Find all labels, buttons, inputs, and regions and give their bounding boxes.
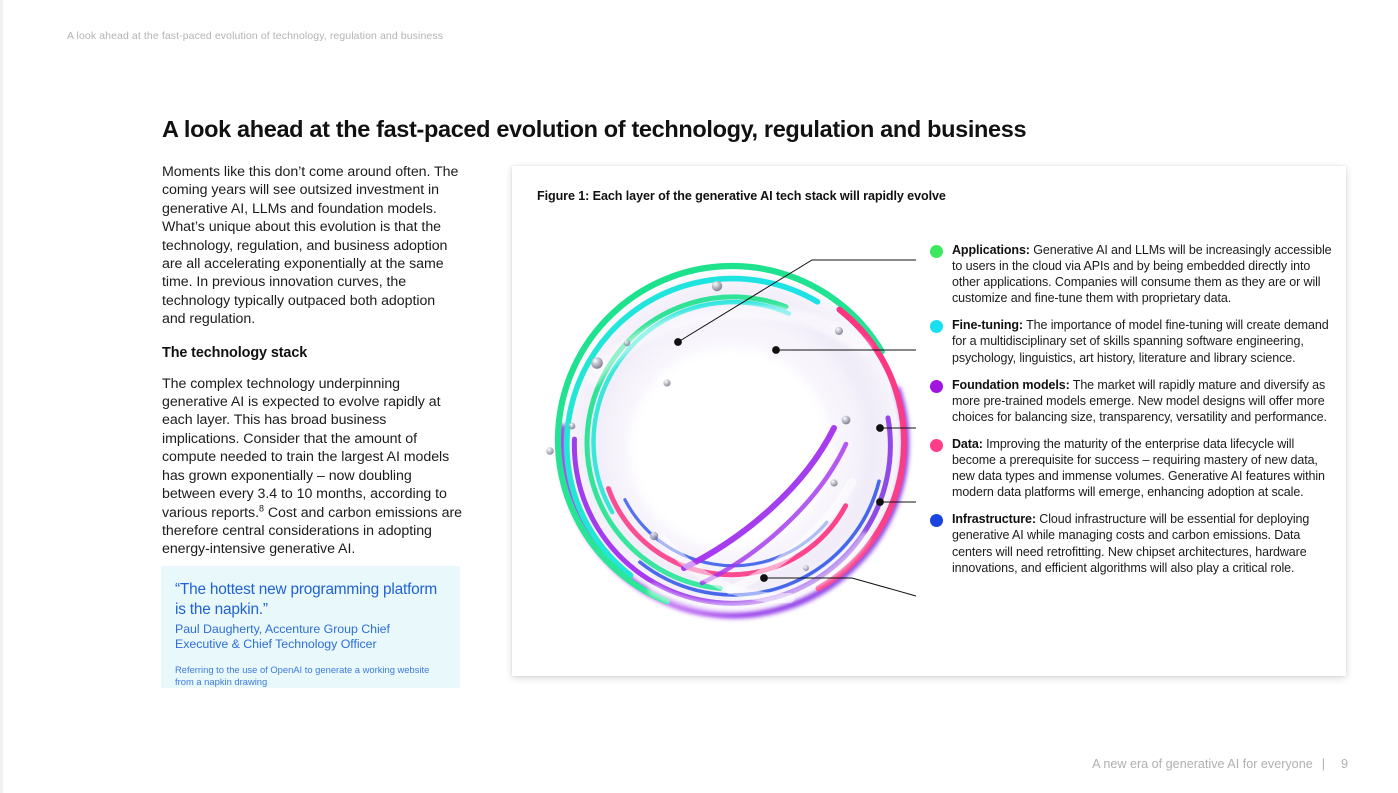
legend-item-applications[interactable]: Applications: Generative AI and LLMs wil…: [922, 242, 1334, 306]
legend-item-foundation-models[interactable]: Foundation models: The market will rapid…: [922, 377, 1334, 425]
legend-label-foundation-models: Foundation models:: [952, 378, 1070, 392]
technology-stack-paragraph: The complex technology underpinning gene…: [162, 375, 462, 559]
figure-caption-text: Each layer of the generative AI tech sta…: [589, 189, 946, 203]
quote-text: “The hottest new programming platform is…: [175, 580, 444, 619]
applications-bullet-icon: [930, 245, 943, 258]
footer-document-title: A new era of generative AI for everyone: [1092, 757, 1313, 771]
infrastructure-bullet-icon: [930, 514, 943, 527]
legend-text-infrastructure: Infrastructure: Cloud infrastructure wil…: [952, 511, 1334, 575]
page-edge-rule: [0, 0, 3, 793]
legend-label-infrastructure: Infrastructure:: [952, 512, 1036, 526]
page-title: A look ahead at the fast-paced evolution…: [162, 116, 1062, 143]
page-footer: A new era of generative AI for everyone|…: [1092, 757, 1348, 771]
figure-caption-label: Figure 1:: [537, 189, 589, 203]
fine-tuning-bullet-icon: [930, 320, 943, 333]
tech-stack-vortex-graphic: [534, 238, 934, 648]
legend-text-fine-tuning: Fine-tuning: The importance of model fin…: [952, 317, 1334, 365]
legend-text-data: Data: Improving the maturity of the ente…: [952, 436, 1334, 500]
figure-caption: Figure 1: Each layer of the generative A…: [537, 189, 946, 203]
left-column: Moments like this don’t come around ofte…: [162, 163, 462, 575]
legend-label-applications: Applications:: [952, 243, 1030, 257]
quote-note: Referring to the use of OpenAI to genera…: [175, 664, 444, 687]
data-bullet-icon: [930, 439, 943, 452]
legend-item-data[interactable]: Data: Improving the maturity of the ente…: [922, 436, 1334, 500]
legend-body-data: Improving the maturity of the enterprise…: [952, 437, 1325, 499]
quote-attribution: Paul Daugherty, Accenture Group Chief Ex…: [175, 622, 444, 652]
section-subheading: The technology stack: [162, 345, 462, 361]
intro-paragraph: Moments like this don’t come around ofte…: [162, 163, 462, 329]
footer-separator: |: [1322, 757, 1325, 771]
paragraph-text-before-footnote: The complex technology underpinning gene…: [162, 376, 449, 521]
running-header: A look ahead at the fast-paced evolution…: [67, 30, 443, 42]
foundation-models-bullet-icon: [930, 380, 943, 393]
legend-label-data: Data:: [952, 437, 983, 451]
footer-page-number: 9: [1341, 757, 1348, 771]
legend-text-applications: Applications: Generative AI and LLMs wil…: [952, 242, 1334, 306]
legend-item-fine-tuning[interactable]: Fine-tuning: The importance of model fin…: [922, 317, 1334, 365]
figure-panel: Figure 1: Each layer of the generative A…: [512, 166, 1346, 676]
quote-callout: “The hottest new programming platform is…: [161, 566, 460, 688]
legend-label-fine-tuning: Fine-tuning:: [952, 318, 1023, 332]
legend-text-foundation-models: Foundation models: The market will rapid…: [952, 377, 1334, 425]
figure-legend: Applications: Generative AI and LLMs wil…: [922, 242, 1334, 587]
legend-item-infrastructure[interactable]: Infrastructure: Cloud infrastructure wil…: [922, 511, 1334, 575]
